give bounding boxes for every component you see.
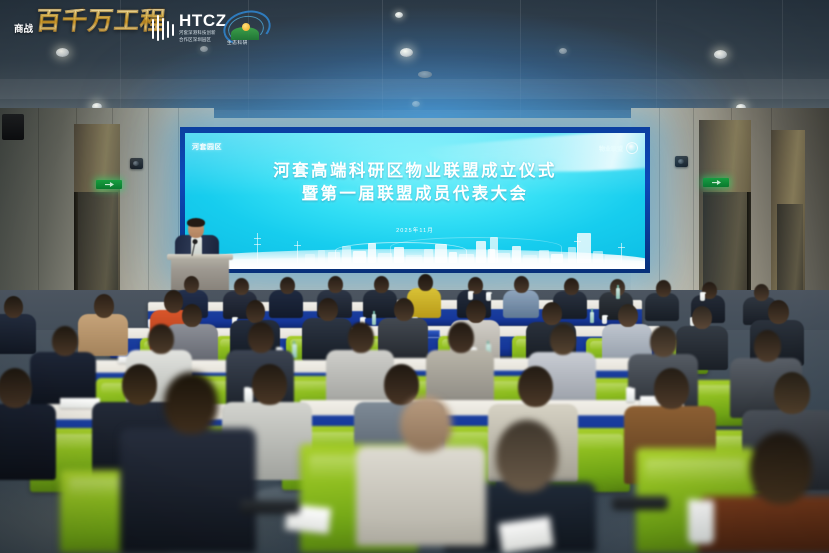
led-screen: 河套园区 物业联盟 河套高端科研区物业联盟成立仪式 暨第一届联盟成员代表大会 2… [185, 133, 645, 269]
conference-hall: 河套园区 物业联盟 河套高端科研区物业联盟成立仪式 暨第一届联盟成员代表大会 2… [0, 0, 829, 553]
screen-corner-logo-right-text: 物业联盟 [599, 144, 623, 153]
exit-sign [703, 178, 729, 187]
wall-camera [130, 158, 143, 169]
green-circle-emblem: 生态科研 [219, 9, 271, 51]
ceiling-speaker [418, 71, 432, 78]
screen-cityscape-graphic [185, 217, 645, 269]
top-logo-banner: 商战 百千万工程 HTCZ 河套深港科技创新 合作区深圳园区 生态科研 [0, 0, 829, 56]
wall-camera [675, 156, 688, 167]
speaker-hair [187, 218, 205, 227]
screen-corner-logo-left: 河套园区 [192, 142, 222, 152]
conference-photo: 河套园区 物业联盟 河套高端科研区物业联盟成立仪式 暨第一届联盟成员代表大会 2… [0, 0, 829, 553]
emblem-caption: 生态科研 [227, 40, 248, 46]
led-screen-frame: 河套园区 物业联盟 河套高端科研区物业联盟成立仪式 暨第一届联盟成员代表大会 2… [180, 127, 650, 273]
exit-sign [96, 180, 122, 189]
screen-corner-mark-icon [626, 142, 638, 154]
screen-title: 河套高端科研区物业联盟成立仪式 暨第一届联盟成员代表大会 [185, 160, 645, 207]
ceiling-spotlight [412, 101, 420, 107]
logo-badge-text: 商战 [14, 25, 33, 35]
screen-corner-logo-right: 物业联盟 [599, 142, 638, 154]
chair-armrest [612, 496, 668, 510]
paper-cup [688, 500, 714, 544]
htcz-logo: HTCZ 河套深港科技创新 合作区深圳园区 [152, 12, 227, 44]
emblem-sun-icon [242, 23, 250, 31]
podium-top [167, 254, 233, 260]
screen-title-line2: 暨第一届联盟成员代表大会 [185, 183, 645, 206]
chair-armrest [240, 500, 300, 514]
logo-wordmark: 百千万工程 [35, 9, 168, 34]
ceiling-speaker [2, 114, 24, 140]
baiqianwan-gongcheng-logo: 商战 百千万工程 [14, 9, 166, 34]
htcz-mark-icon [152, 15, 174, 41]
screen-title-line1: 河套高端科研区物业联盟成立仪式 [185, 160, 645, 183]
